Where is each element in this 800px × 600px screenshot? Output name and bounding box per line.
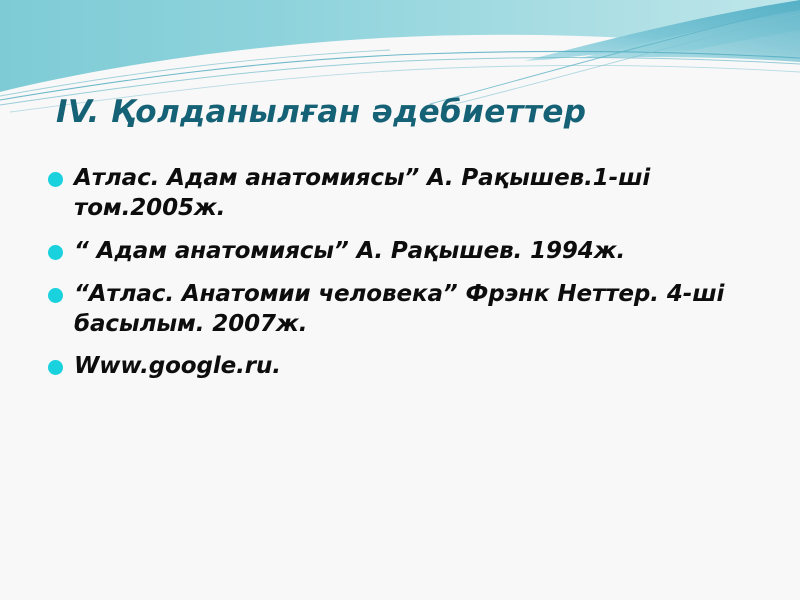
- bullet-dot-icon: [48, 288, 63, 303]
- teal-ribbon-mid: [470, 10, 800, 86]
- hairline-arc-5: [455, 14, 800, 104]
- list-item: Www.google.ru.: [44, 352, 744, 382]
- list-item: Атлас. Адам анатомиясы” А. Рақышев.1-ші …: [44, 164, 744, 224]
- slide-canvas: IV. Қолданылған әдебиеттер Атлас. Адам а…: [0, 0, 800, 600]
- teal-ribbon-deep: [505, 0, 800, 66]
- teal-ribbon-light: [455, 30, 800, 100]
- reference-list: Атлас. Адам анатомиясы” А. Рақышев.1-ші …: [44, 164, 744, 395]
- bullet-dot-icon: [48, 245, 63, 260]
- bullet-dot-icon: [48, 172, 63, 187]
- teal-band-shape: [0, 0, 800, 92]
- list-item: “ Адам анатомиясы” А. Рақышев. 1994ж.: [44, 237, 744, 267]
- list-item-text: Www.google.ru.: [74, 352, 744, 382]
- list-item-text: “ Адам анатомиясы” А. Рақышев. 1994ж.: [74, 237, 744, 267]
- bullet-dot-icon: [48, 360, 63, 375]
- hairline-arc-1: [0, 51, 800, 100]
- hairline-arc-6: [0, 50, 390, 96]
- list-item-text: Атлас. Адам анатомиясы” А. Рақышев.1-ші …: [74, 164, 744, 224]
- list-item: “Атлас. Анатомии человека” Фрэнк Неттер.…: [44, 280, 744, 340]
- hairline-arc-4: [430, 6, 800, 104]
- slide-title: IV. Қолданылған әдебиеттер: [56, 95, 586, 131]
- list-item-text: “Атлас. Анатомии человека” Фрэнк Неттер.…: [74, 280, 744, 340]
